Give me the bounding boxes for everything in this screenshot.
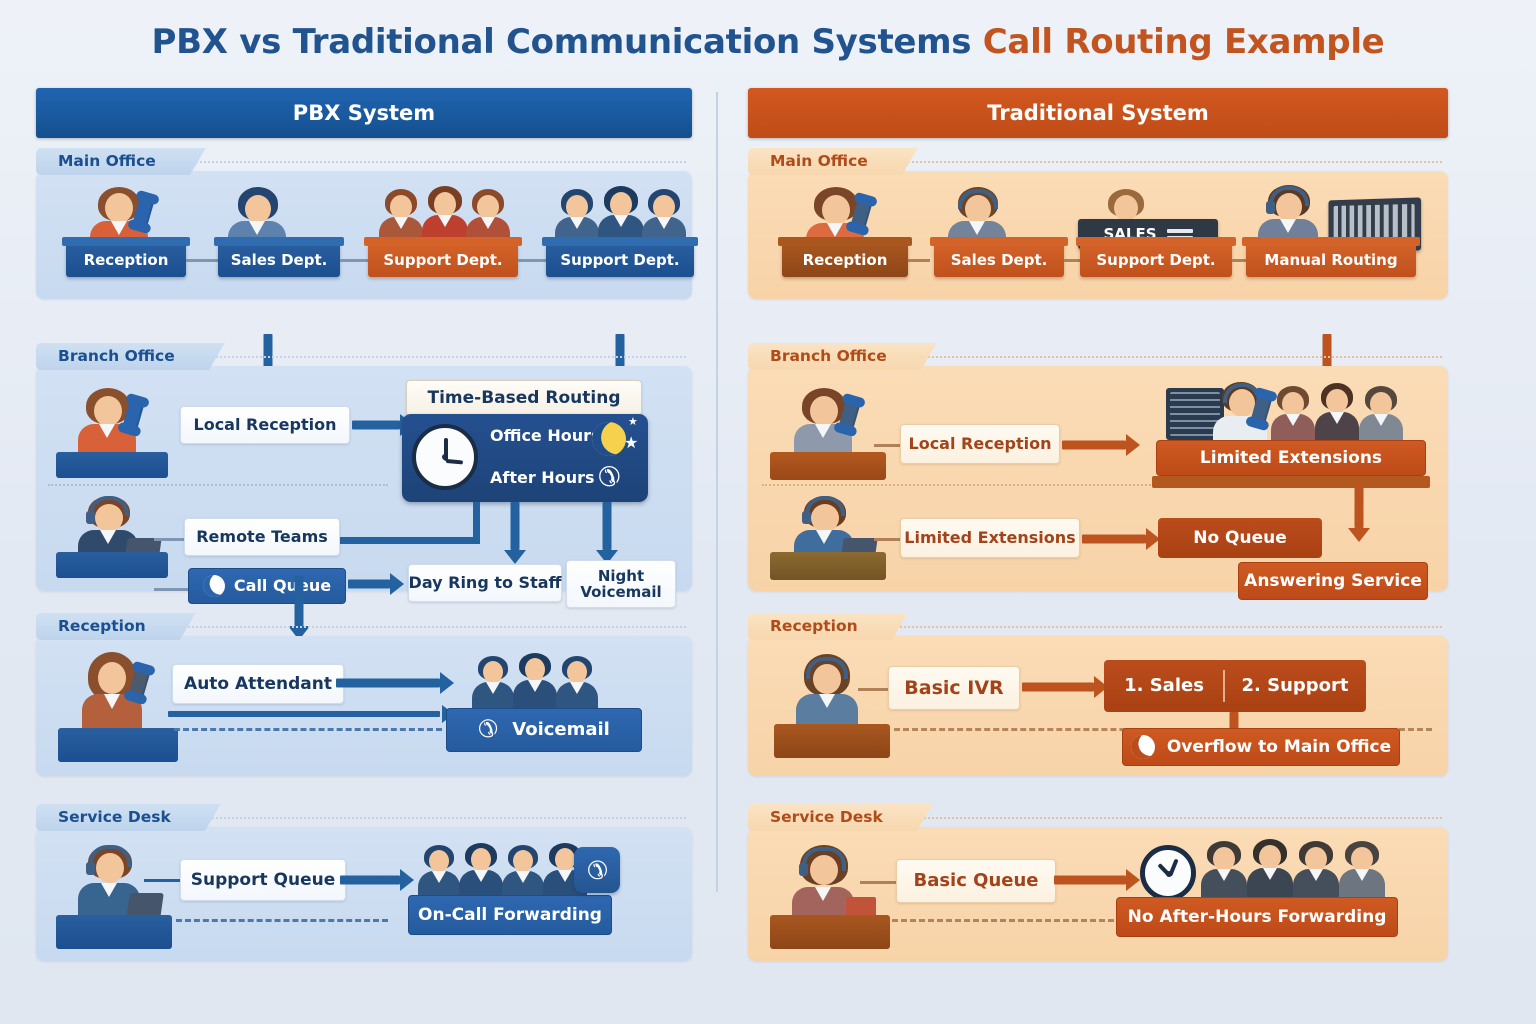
- arrow-trad-limited-ext: [1082, 528, 1160, 550]
- pbx-section-service-desk: Service Desk Support Queue: [36, 804, 692, 961]
- phone-icon: ✆: [598, 462, 621, 493]
- pbx-main-office-label: Main Office: [36, 148, 190, 175]
- pbx-chip-support-queue[interactable]: Support Queue: [180, 859, 346, 901]
- person-trad-ext-c: [1358, 384, 1404, 444]
- pbx-time-routing-panel: Office Hours After Hours ★ ★ ✆: [402, 414, 648, 502]
- pbx-service-desk-label: Service Desk: [36, 804, 205, 831]
- trad-desk-sales[interactable]: Sales Dept.: [934, 243, 1064, 277]
- pbx-chip-on-call-forwarding[interactable]: On-Call Forwarding: [408, 895, 612, 935]
- arrow-basic-queue: [1054, 869, 1140, 891]
- trad-main-office-body: Reception Sales Dept.: [748, 171, 1448, 299]
- pbx-chip-voicemail-label: Voicemail: [512, 720, 610, 739]
- pbx-label-office-hours: Office Hours: [490, 426, 601, 445]
- pbx-section-main-office: Main Office Reception: [36, 148, 692, 299]
- pbx-chip-auto-attendant[interactable]: Auto Attendant: [172, 664, 344, 704]
- arrow-basic-ivr: [1022, 676, 1108, 698]
- pbx-label-after-hours: After Hours: [490, 468, 595, 487]
- phone-icon: ✆: [587, 856, 608, 885]
- trad-chip-basic-queue[interactable]: Basic Queue: [896, 859, 1056, 903]
- trad-desk-manual-routing[interactable]: Manual Routing: [1246, 243, 1416, 277]
- person-remote-teams: [74, 494, 144, 560]
- trad-chip-ivr-options[interactable]: 1. Sales 2. Support: [1104, 660, 1366, 712]
- trad-desk-support[interactable]: Support Dept.: [1080, 243, 1232, 277]
- pbx-desk-support-orange[interactable]: Support Dept.: [368, 243, 518, 277]
- trad-chip-overflow-label: Overflow to Main Office: [1167, 738, 1391, 756]
- trad-ivr-option-1: 1. Sales: [1105, 676, 1223, 695]
- phone-badge[interactable]: ✆: [574, 847, 620, 893]
- trad-service-desk-label: Service Desk: [748, 804, 917, 831]
- arrow-night: [594, 502, 620, 564]
- trad-desk-reception[interactable]: Reception: [782, 243, 908, 277]
- arrow-trad-local-reception: [1062, 434, 1140, 456]
- panel-divider: [716, 92, 718, 892]
- pbx-chip-night-voicemail-label: Night Voicemail: [573, 568, 669, 600]
- arrow-answering-service: [1346, 484, 1372, 542]
- trad-branch-office-body: Local Reception Limited Extensions: [748, 366, 1448, 591]
- pbx-section-reception: Reception Auto Attendant: [36, 613, 692, 776]
- page-title-accent: Call Routing Example: [983, 22, 1385, 62]
- trad-chip-local-reception[interactable]: Local Reception: [900, 424, 1060, 464]
- pbx-branch-office-body: Local Reception Remo: [36, 366, 692, 591]
- pbx-service-desk-body: Support Queue: [36, 827, 692, 961]
- pbx-desk-reception[interactable]: Reception: [66, 243, 186, 277]
- person-trad-sd-c: [1292, 839, 1340, 901]
- person-vm-a: [472, 654, 514, 712]
- arrow-call-queue: [348, 573, 404, 595]
- pbx-panel-header: PBX System: [36, 88, 692, 138]
- clock-icon: [412, 424, 478, 490]
- pbx-panel: PBX System Main Office Reception: [36, 88, 692, 961]
- trad-main-office-label: Main Office: [748, 148, 902, 175]
- pbx-chip-call-queue-label: Call Queue: [234, 577, 331, 594]
- arrow-to-voicemail: [168, 704, 454, 724]
- person-trad-ext-b: [1314, 381, 1360, 444]
- person-trad-service-desk: [788, 843, 864, 921]
- person-trad-sd-b: [1246, 837, 1294, 901]
- trad-ivr-option-2: 2. Support: [1225, 676, 1365, 695]
- phone-icon: ✆: [478, 717, 498, 743]
- person-vm-b: [513, 651, 557, 712]
- pbx-reception-label: Reception: [36, 613, 180, 640]
- trad-chip-limited-extensions-left[interactable]: Limited Extensions: [900, 518, 1080, 558]
- person-reception-2: [76, 650, 152, 732]
- trad-section-service-desk: Service Desk Basic Queue: [748, 804, 1448, 961]
- pbx-chip-night-voicemail[interactable]: Night Voicemail: [566, 560, 676, 608]
- crescent-moon-icon: [1126, 731, 1159, 764]
- trad-chip-limited-extensions-right[interactable]: Limited Extensions: [1156, 440, 1426, 476]
- trad-branch-office-label: Branch Office: [748, 343, 921, 370]
- arrow-support-queue: [340, 869, 414, 891]
- infographic-canvas: PBX vs Traditional Communication Systems…: [0, 0, 1536, 1024]
- page-title: PBX vs Traditional Communication Systems…: [0, 22, 1536, 62]
- person-oncall-b: [459, 841, 503, 899]
- person-service-desk: [74, 843, 148, 919]
- pbx-chip-day-ring[interactable]: Day Ring to Staff: [408, 564, 562, 602]
- person-trad-sd-a: [1200, 839, 1248, 901]
- clock-icon: [1140, 845, 1196, 901]
- trad-reception-label: Reception: [748, 613, 892, 640]
- trad-section-branch-office: Branch Office Local Reception: [748, 343, 1448, 591]
- person-trad-reception-2: [792, 652, 864, 728]
- trad-section-reception: Reception Basic IVR 1. Sales: [748, 613, 1448, 776]
- pbx-branch-office-label: Branch Office: [36, 343, 209, 370]
- pbx-chip-remote-teams[interactable]: Remote Teams: [184, 518, 340, 556]
- trad-service-desk-body: Basic Queue: [748, 827, 1448, 961]
- pbx-chip-local-reception[interactable]: Local Reception: [180, 406, 350, 444]
- arrow-day: [502, 502, 528, 564]
- person-trad-local-reception: [788, 386, 860, 458]
- trad-chip-no-queue[interactable]: No Queue: [1158, 518, 1322, 558]
- crescent-moon-icon: [199, 571, 229, 601]
- trad-reception-body: Basic IVR 1. Sales 2. Support Overflow t…: [748, 636, 1448, 776]
- trad-chip-answering-service[interactable]: Answering Service: [1238, 562, 1428, 600]
- page-title-primary: PBX vs Traditional Communication Systems: [152, 22, 983, 62]
- pbx-reception-body: Auto Attendant: [36, 636, 692, 776]
- arrow-auto-attendant: [336, 672, 454, 694]
- person-trad-sd-d: [1338, 839, 1386, 901]
- trad-section-main-office: Main Office Reception: [748, 148, 1448, 299]
- pbx-chip-call-queue[interactable]: Call Queue: [188, 568, 346, 604]
- star-icon: ★: [624, 436, 638, 452]
- traditional-panel: Traditional System Main Office Reception: [748, 88, 1448, 961]
- star-icon: ★: [628, 417, 638, 428]
- person-local-reception: [72, 386, 144, 458]
- traditional-panel-header: Traditional System: [748, 88, 1448, 138]
- pbx-chip-time-based-routing[interactable]: Time-Based Routing: [406, 380, 642, 416]
- person-oncall-a: [418, 843, 460, 899]
- pbx-desk-sales[interactable]: Sales Dept.: [218, 243, 340, 277]
- pbx-main-office-body: Reception Sales Dept.: [36, 171, 692, 299]
- pbx-chip-voicemail[interactable]: ✆ Voicemail: [446, 708, 642, 752]
- pbx-desk-support-blue[interactable]: Support Dept.: [546, 243, 694, 277]
- person-vm-c: [556, 654, 598, 712]
- person-trad-ext-a: [1270, 384, 1316, 444]
- ivr-option-separator: [1223, 670, 1225, 702]
- person-trad-operator-2: [1210, 380, 1270, 446]
- trad-chip-overflow[interactable]: Overflow to Main Office: [1122, 728, 1400, 766]
- pbx-section-branch-office: Branch Office Local Reception: [36, 343, 692, 591]
- person-oncall-c: [502, 843, 544, 899]
- person-trad-limited-ext: [790, 494, 860, 560]
- trad-chip-no-after-hours[interactable]: No After-Hours Forwarding: [1116, 897, 1398, 937]
- trad-chip-basic-ivr[interactable]: Basic IVR: [888, 666, 1020, 710]
